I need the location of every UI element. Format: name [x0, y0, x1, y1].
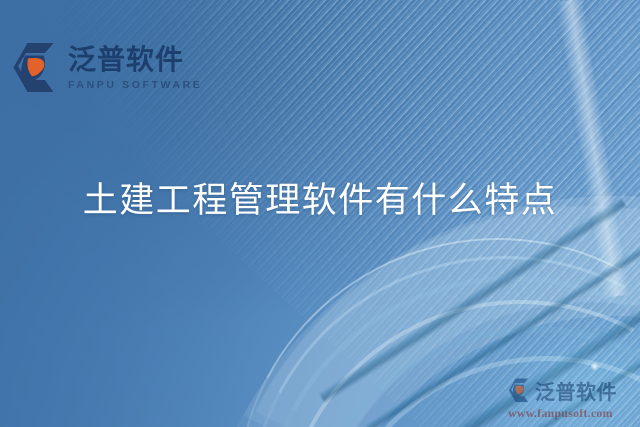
glass-specular-glint [590, 362, 599, 371]
watermark-logo-row: 泛普软件 [508, 376, 638, 405]
page-title: 土建工程管理软件有什么特点 [0, 172, 640, 223]
brand-logo-text: 泛普软件 FANPU SOFTWARE [68, 46, 202, 91]
watermark-url: www.fanpusoft.com [508, 406, 638, 421]
fanpu-hexagon-logo-icon [508, 378, 531, 403]
fanpu-hexagon-logo-icon [12, 42, 59, 94]
banner-image: 泛普软件 FANPU SOFTWARE 土建工程管理软件有什么特点 泛普软件 w… [0, 0, 640, 427]
brand-name-en: FANPU SOFTWARE [68, 80, 202, 91]
watermark-name-cn: 泛普软件 [535, 376, 617, 405]
brand-logo: 泛普软件 FANPU SOFTWARE [12, 42, 202, 94]
watermark: 泛普软件 www.fanpusoft.com [508, 376, 638, 421]
brand-name-cn: 泛普软件 [68, 46, 202, 74]
